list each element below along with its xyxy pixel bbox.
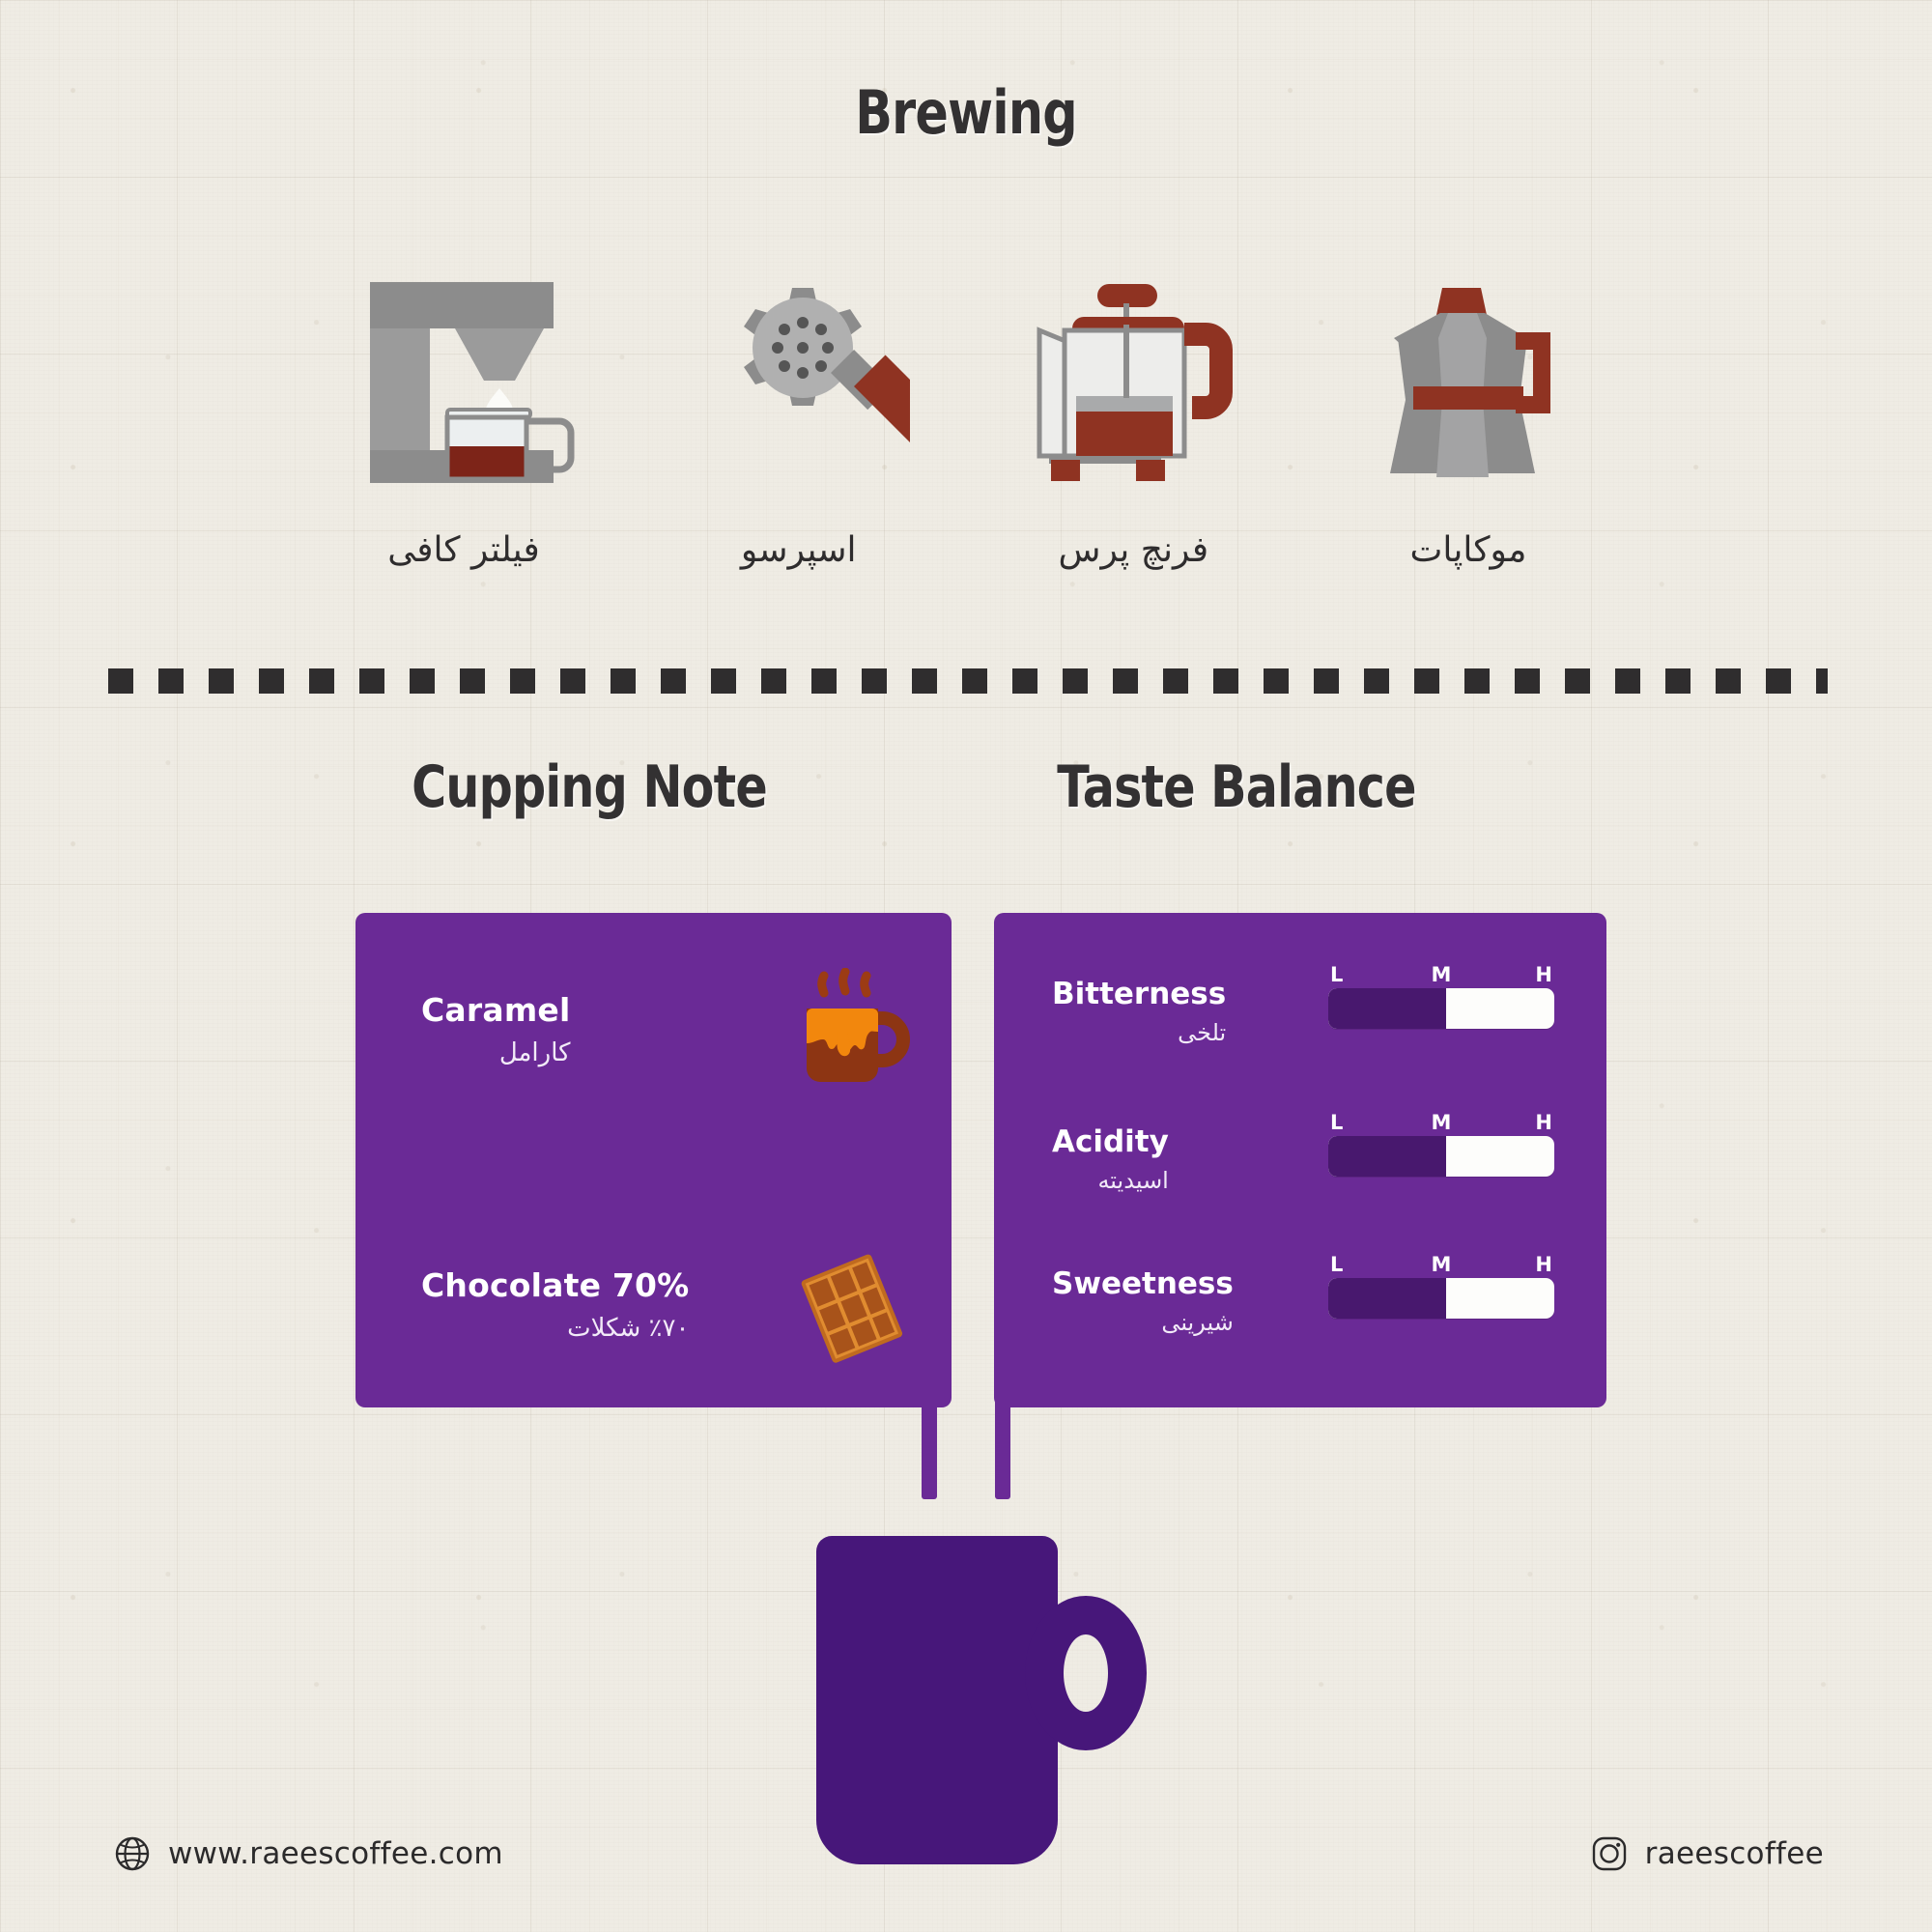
cupping-note-label-en: Caramel [421, 991, 571, 1029]
chocolate-bar-icon [787, 1241, 913, 1367]
cupping-note-text: Chocolate 70% ٪۷۰ شکلات [421, 1266, 689, 1343]
mug-handle [1025, 1596, 1147, 1750]
taste-attribute-row: Bitterness تلخی L M H [1052, 963, 1554, 1046]
dashed-divider [108, 668, 1828, 694]
brewing-method-moka-pot[interactable]: موکاپات [1323, 266, 1613, 570]
meter-fill [1328, 1136, 1446, 1177]
meter-tick-high: H [1535, 963, 1552, 986]
meter-track [1328, 1278, 1554, 1319]
brew-icon-slot [1022, 266, 1244, 488]
taste-attribute-label-fa: شیرینی [1052, 1309, 1234, 1336]
taste-attribute-label-en: Bitterness [1052, 977, 1226, 1011]
cupping-note-text: Caramel کارامل [421, 991, 571, 1067]
taste-meter: L M H [1328, 1111, 1554, 1177]
brewing-method-french-press[interactable]: فرنچ پرس [988, 266, 1278, 570]
taste-attribute-label-en: Acidity [1052, 1124, 1169, 1159]
connector-stem-right [995, 1391, 1010, 1499]
meter-tick-low: L [1330, 1111, 1343, 1134]
brewing-method-filter-coffee[interactable]: فیلتر کافی [319, 266, 609, 570]
espresso-portafilter-icon [688, 280, 910, 488]
brew-icon-slot [1357, 266, 1579, 488]
instagram-icon [1591, 1835, 1628, 1872]
meter-fill [1328, 988, 1446, 1029]
footer-website[interactable]: www.raeescoffee.com [114, 1835, 503, 1872]
taste-attribute-label-fa: اسیدیته [1052, 1167, 1169, 1194]
meter-scale: L M H [1328, 1111, 1554, 1136]
meter-scale: L M H [1328, 963, 1554, 988]
meter-tick-high: H [1535, 1111, 1552, 1134]
caramel-mug-icon [787, 966, 913, 1092]
taste-attribute-text: Bitterness تلخی [1052, 963, 1226, 1046]
coffee-mug-graphic [816, 1536, 1116, 1864]
section-title-taste-balance: Taste Balance [1014, 753, 1458, 821]
footer-instagram[interactable]: raeescoffee [1591, 1835, 1824, 1872]
taste-attribute-row: Acidity اسیدیته L M H [1052, 1111, 1554, 1194]
brewing-method-label: فیلتر کافی [387, 530, 539, 570]
meter-tick-medium: M [1432, 1111, 1452, 1134]
page-title-brewing: Brewing [174, 77, 1758, 148]
meter-track [1328, 1136, 1554, 1177]
brewing-method-espresso[interactable]: اسپرسو [654, 266, 944, 570]
brewing-method-label: موکاپات [1410, 530, 1527, 570]
taste-attribute-label-en: Sweetness [1052, 1266, 1234, 1301]
moka-pot-icon [1357, 280, 1579, 488]
taste-attribute-row: Sweetness شیرینی L M H [1052, 1253, 1554, 1336]
instagram-handle-text: raeescoffee [1645, 1836, 1824, 1871]
brew-icon-slot [353, 266, 575, 488]
meter-tick-low: L [1330, 1253, 1343, 1276]
filter-coffee-machine-icon [353, 280, 575, 488]
cupping-note-row: Chocolate 70% ٪۷۰ شکلات [421, 1241, 913, 1367]
taste-attribute-text: Acidity اسیدیته [1052, 1111, 1169, 1194]
french-press-icon [1022, 280, 1244, 488]
cupping-note-label-fa: کارامل [421, 1038, 571, 1067]
mug-body [816, 1536, 1058, 1864]
cupping-note-card: Caramel کارامل Chocolate 70% ٪۷۰ شکلات [355, 913, 952, 1407]
brewing-method-label: اسپرسو [741, 530, 857, 570]
website-url-text: www.raeescoffee.com [168, 1836, 503, 1871]
meter-tick-high: H [1535, 1253, 1552, 1276]
taste-attribute-label-fa: تلخی [1052, 1019, 1226, 1046]
taste-balance-card: Bitterness تلخی L M H Acidity اسیدیته [994, 913, 1606, 1407]
globe-icon [114, 1835, 151, 1872]
cupping-note-label-en: Chocolate 70% [421, 1266, 689, 1304]
section-title-cupping-note: Cupping Note [367, 753, 810, 821]
taste-meter: L M H [1328, 1253, 1554, 1319]
brewing-methods-row: فیلتر کافی [319, 261, 1613, 570]
meter-tick-medium: M [1432, 1253, 1452, 1276]
taste-attribute-text: Sweetness شیرینی [1052, 1253, 1234, 1336]
cupping-note-label-fa: ٪۷۰ شکلات [421, 1314, 689, 1343]
meter-tick-low: L [1330, 963, 1343, 986]
brew-icon-slot [688, 266, 910, 488]
brewing-method-label: فرنچ پرس [1059, 530, 1209, 570]
cupping-note-row: Caramel کارامل [421, 966, 913, 1092]
connector-stem-left [922, 1391, 937, 1499]
meter-scale: L M H [1328, 1253, 1554, 1278]
meter-track [1328, 988, 1554, 1029]
taste-meter: L M H [1328, 963, 1554, 1029]
meter-fill [1328, 1278, 1446, 1319]
meter-tick-medium: M [1432, 963, 1452, 986]
